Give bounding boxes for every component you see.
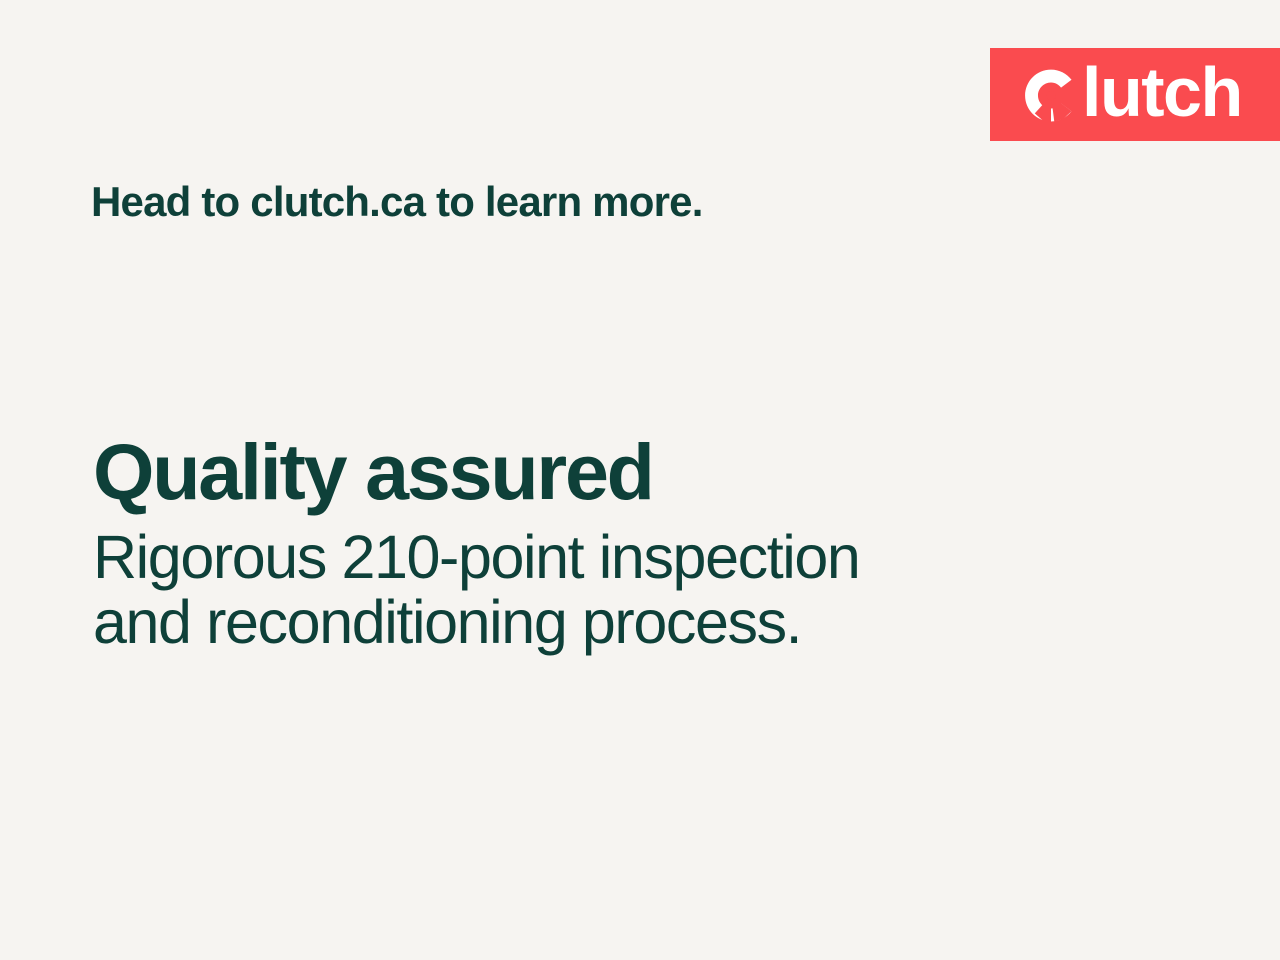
clutch-c-wheel-icon bbox=[1024, 68, 1078, 122]
subcopy: Rigorous 210-point inspection and recond… bbox=[93, 525, 1093, 656]
slide-canvas: lutch Head to clutch.ca to learn more. Q… bbox=[0, 0, 1280, 960]
subcopy-line-1: Rigorous 210-point inspection bbox=[93, 525, 1093, 590]
clutch-wordmark: lutch bbox=[1024, 48, 1242, 141]
subcopy-line-2: and reconditioning process. bbox=[93, 590, 1093, 655]
learn-more-link-line[interactable]: Head to clutch.ca to learn more. bbox=[91, 178, 703, 226]
page-title: Quality assured bbox=[93, 432, 1093, 511]
clutch-brand-badge[interactable]: lutch bbox=[990, 48, 1280, 141]
headline-block: Quality assured Rigorous 210-point inspe… bbox=[93, 432, 1093, 656]
clutch-wordmark-text: lutch bbox=[1082, 57, 1242, 127]
